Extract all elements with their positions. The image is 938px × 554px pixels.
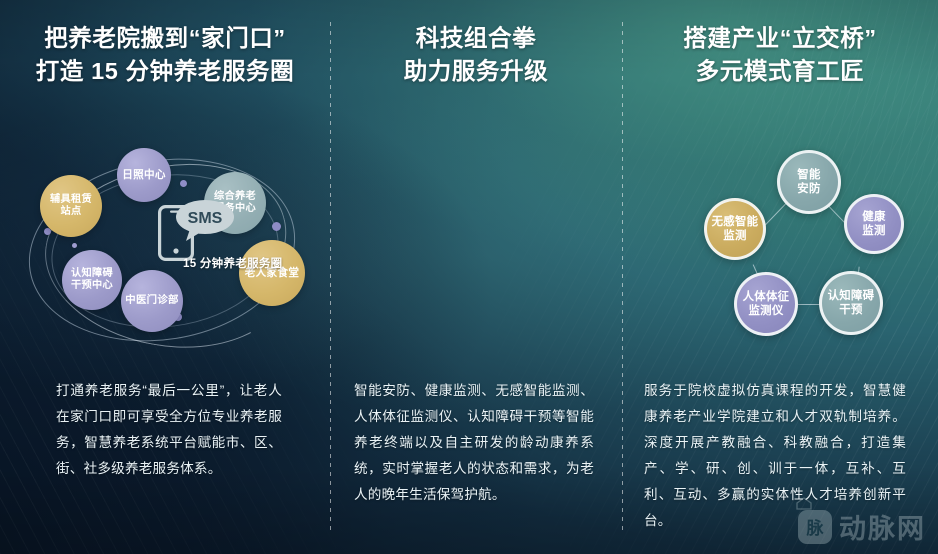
column-1-heading-line1: 把养老院搬到“家门口” [44, 25, 286, 51]
column-home-care-circle: 把养老院搬到“家门口” 打造 15 分钟养老服务圈 日照中心 综合养老服务中心 [0, 0, 330, 554]
column-industry-bridge: 搭建产业“立交桥” 多元模式育工匠 产 [622, 0, 938, 554]
watermark-badge-wrap: 脉 [798, 510, 832, 544]
watermark: 脉 动脉网 [798, 507, 926, 546]
column-2-heading-line1: 科技组合拳 [416, 25, 537, 51]
orbit-diagram: 日照中心 综合养老服务中心 老人家食堂 中医门诊部 认知障碍干预中心 辅具租赁站… [18, 142, 318, 357]
column-tech-stack: 科技组合拳 助力服务升级 智能安防 健康监测 认知障碍干预 人体体征监测仪 [330, 0, 622, 554]
column-3-heading: 搭建产业“立交桥” 多元模式育工匠 [622, 22, 938, 89]
orbit-center-label: 15 分钟养老服务圈 [183, 255, 283, 271]
column-2-body: 智能安防、健康监测、无感智能监测、人体体征监测仪、认知障碍干预等智能养老终端以及… [330, 378, 622, 508]
column-1-heading: 把养老院搬到“家门口” 打造 15 分钟养老服务圈 [0, 22, 330, 89]
watermark-badge: 脉 [798, 510, 832, 544]
column-2-heading-line2: 助力服务升级 [342, 55, 610, 88]
column-2-heading: 科技组合拳 助力服务升级 [330, 22, 622, 89]
orbit-dot-1 [180, 180, 187, 187]
orbit-dot-6 [72, 243, 77, 248]
column-3-heading-line1: 搭建产业“立交桥” [683, 25, 876, 51]
orbit-node-label: 日照中心 [122, 169, 166, 182]
orbit-node-tcm-clinic[interactable]: 中医门诊部 [121, 270, 183, 332]
orbit-node-cognitive-intervention[interactable]: 认知障碍干预中心 [62, 250, 122, 310]
sms-bubble-icon: SMS [174, 198, 236, 242]
svg-text:SMS: SMS [188, 210, 223, 227]
column-3-heading-line2: 多元模式育工匠 [634, 55, 926, 88]
orbit-node-label: 中医门诊部 [125, 295, 178, 308]
infographic-canvas: 把养老院搬到“家门口” 打造 15 分钟养老服务圈 日照中心 综合养老服务中心 [0, 0, 938, 554]
orbit-node-assistive-rental[interactable]: 辅具租赁站点 [40, 175, 102, 237]
orbit-dot-2 [272, 222, 281, 231]
house-icon [796, 497, 812, 510]
orbit-node-day-care[interactable]: 日照中心 [117, 148, 171, 202]
column-1-heading-line2: 打造 15 分钟养老服务圈 [12, 55, 318, 88]
orbit-node-label: 认知障碍干预中心 [71, 268, 113, 293]
orbit-node-elderly-canteen[interactable]: 老人家食堂 [239, 240, 305, 306]
watermark-text: 动脉网 [839, 507, 926, 546]
column-1-body: 打通养老服务“最后一公里”，让老人在家门口即可享受全方位专业养老服务，智慧养老系… [0, 378, 330, 482]
orbit-node-label: 辅具租赁站点 [50, 194, 92, 219]
